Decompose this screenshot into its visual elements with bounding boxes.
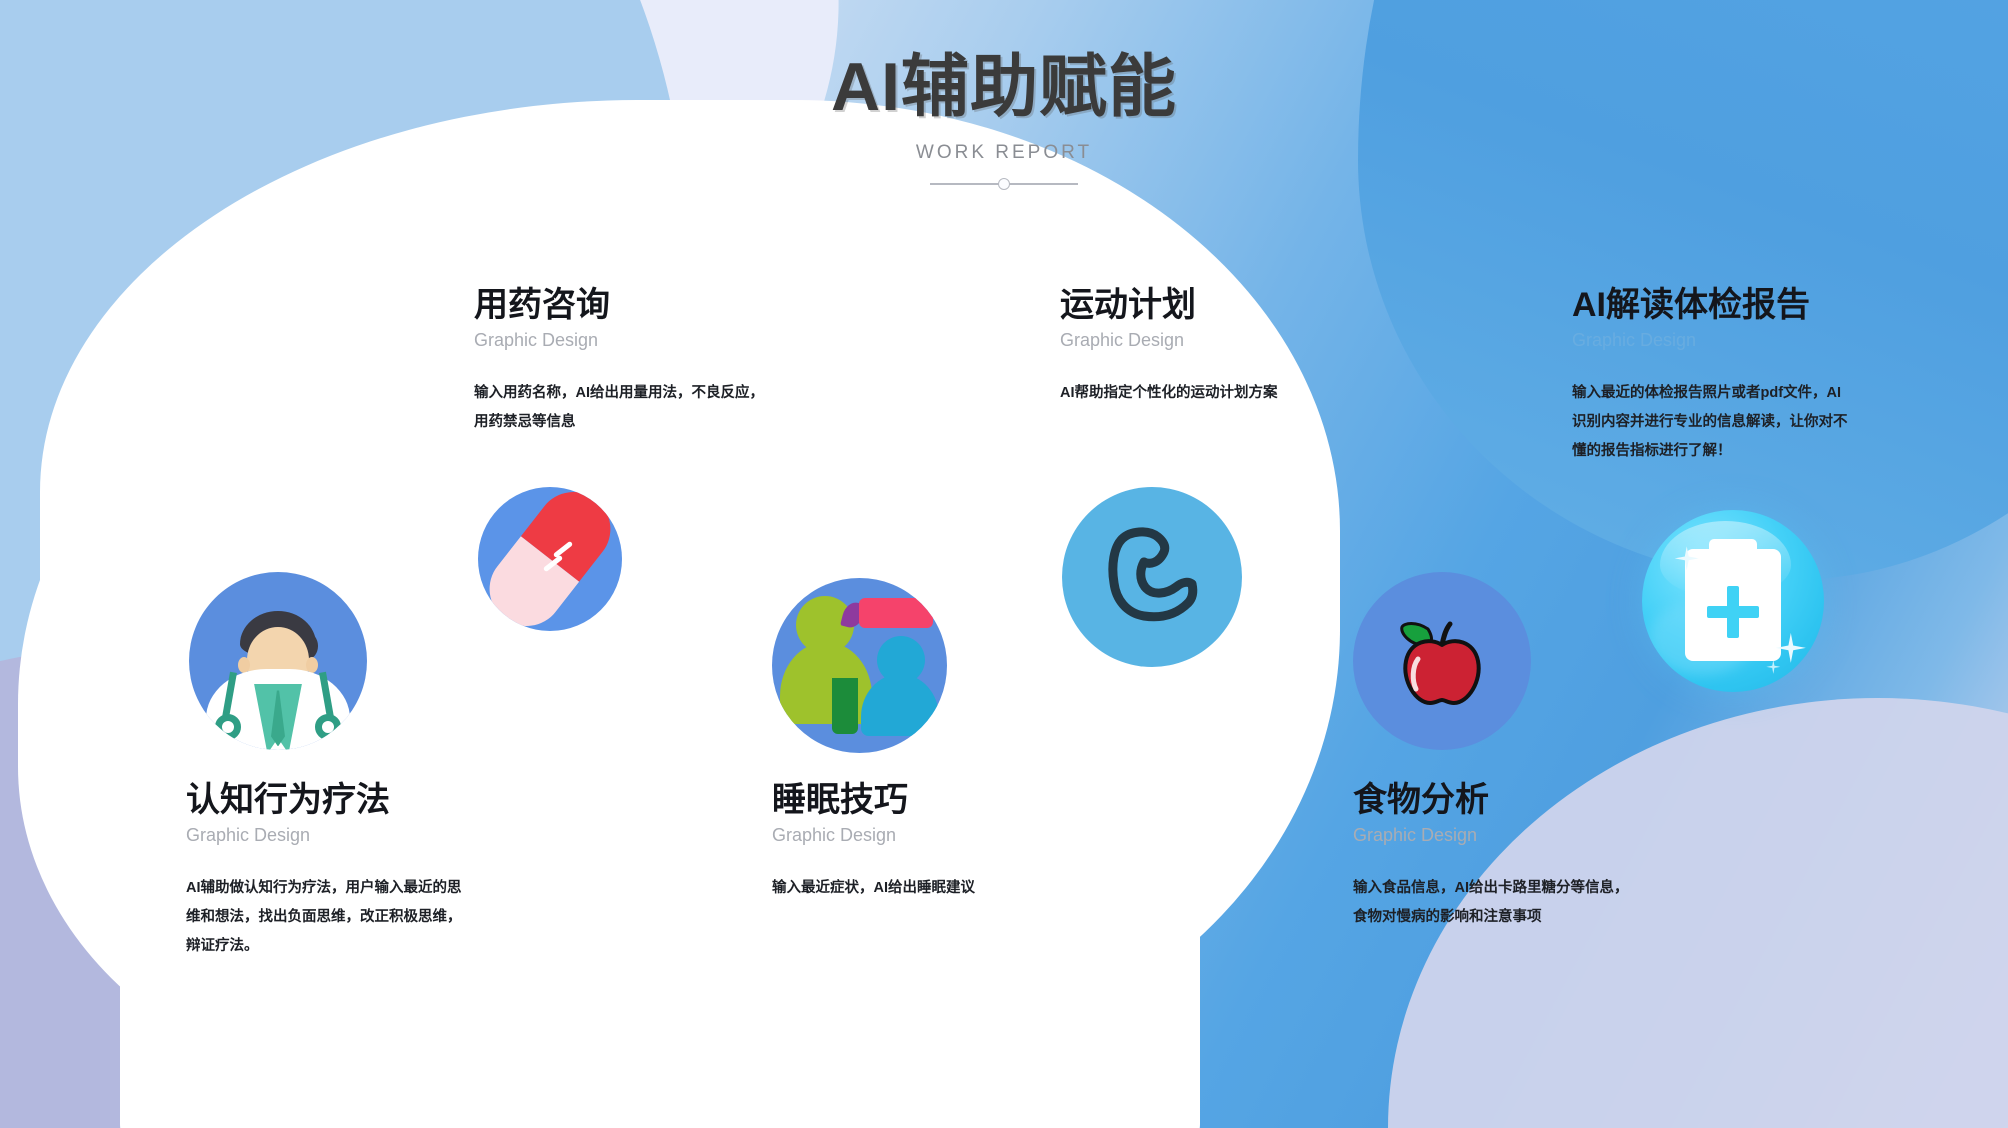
feature-cognitive-behavioral-therapy[interactable]: 认知行为疗法 Graphic Design AI辅助做认知行为疗法，用户输入最近… bbox=[186, 780, 526, 961]
feature-description: 输入最近症状，AI给出睡眠建议 bbox=[772, 874, 1072, 903]
sparkle-icon-3 bbox=[1766, 660, 1780, 674]
stethoscope-right bbox=[315, 714, 341, 740]
page-title: AI辅助赋能 bbox=[0, 48, 2008, 126]
feature-description: 输入食品信息，AI给出卡路里糖分等信息， 食物对慢病的影响和注意事项 bbox=[1353, 874, 1693, 932]
slide-header: AI辅助赋能 WORK REPORT bbox=[0, 48, 2008, 190]
feature-exercise-plan[interactable]: 运动计划 Graphic Design AI帮助指定个性化的运动计划方案 bbox=[1060, 285, 1360, 408]
feature-description: AI辅助做认知行为疗法，用户输入最近的思 维和想法，找出负面思维，改正积极思维，… bbox=[186, 874, 526, 961]
bicep-glyph bbox=[1092, 521, 1212, 633]
pill-shape bbox=[478, 487, 622, 631]
apple-glyph bbox=[1382, 601, 1502, 721]
feature-sub-label: Graphic Design bbox=[186, 824, 526, 847]
feature-heading: 食物分析 bbox=[1353, 780, 1693, 821]
feature-heading: 认知行为疗法 bbox=[186, 780, 526, 821]
doctor-avatar-icon[interactable] bbox=[189, 572, 367, 750]
feature-sub-label: Graphic Design bbox=[1060, 329, 1360, 352]
medical-clipboard-icon[interactable] bbox=[1642, 510, 1824, 692]
speech-bubble-icon bbox=[859, 598, 933, 628]
feature-description: AI帮助指定个性化的运动计划方案 bbox=[1060, 379, 1360, 408]
stethoscope-left bbox=[215, 714, 241, 740]
medical-cross-horizontal bbox=[1707, 606, 1759, 618]
flexed-bicep-icon[interactable] bbox=[1062, 487, 1242, 667]
clipboard-clip bbox=[1709, 539, 1757, 561]
feature-sub-label: Graphic Design bbox=[1572, 329, 1912, 352]
feature-sub-label: Graphic Design bbox=[772, 824, 1072, 847]
feature-medication-consult[interactable]: 用药咨询 Graphic Design 输入用药名称，AI给出用量用法，不良反应… bbox=[474, 285, 834, 437]
feature-sub-label: Graphic Design bbox=[474, 329, 834, 352]
slide-canvas: AI辅助赋能 WORK REPORT 用药咨询 Graphic Design 输… bbox=[0, 0, 2008, 1128]
divider-dot-icon bbox=[998, 178, 1010, 190]
page-subtitle: WORK REPORT bbox=[0, 142, 2008, 164]
feature-description: 输入最近的体检报告照片或者pdf文件，AI 识别内容并进行专业的信息解读，让你对… bbox=[1572, 379, 1912, 466]
person-cyan-body bbox=[861, 674, 939, 736]
feature-ai-health-report[interactable]: AI解读体检报告 Graphic Design 输入最近的体检报告照片或者pdf… bbox=[1572, 285, 1912, 466]
feature-sub-label: Graphic Design bbox=[1353, 824, 1693, 847]
feature-heading: AI解读体检报告 bbox=[1572, 285, 1912, 326]
feature-heading: 睡眠技巧 bbox=[772, 780, 1072, 821]
feature-description: 输入用药名称，AI给出用量用法，不良反应， 用药禁忌等信息 bbox=[474, 379, 834, 437]
feature-food-analysis[interactable]: 食物分析 Graphic Design 输入食品信息，AI给出卡路里糖分等信息，… bbox=[1353, 780, 1693, 932]
apple-icon[interactable] bbox=[1353, 572, 1531, 750]
feature-sleep-tips[interactable]: 睡眠技巧 Graphic Design 输入最近症状，AI给出睡眠建议 bbox=[772, 780, 1072, 903]
feature-heading: 运动计划 bbox=[1060, 285, 1360, 326]
person-overlap-shadow bbox=[832, 678, 858, 734]
feature-heading: 用药咨询 bbox=[474, 285, 834, 326]
person-green-body bbox=[780, 642, 872, 724]
two-people-talking-icon[interactable] bbox=[772, 578, 947, 753]
header-divider bbox=[930, 178, 1078, 190]
pill-icon[interactable] bbox=[478, 487, 622, 631]
